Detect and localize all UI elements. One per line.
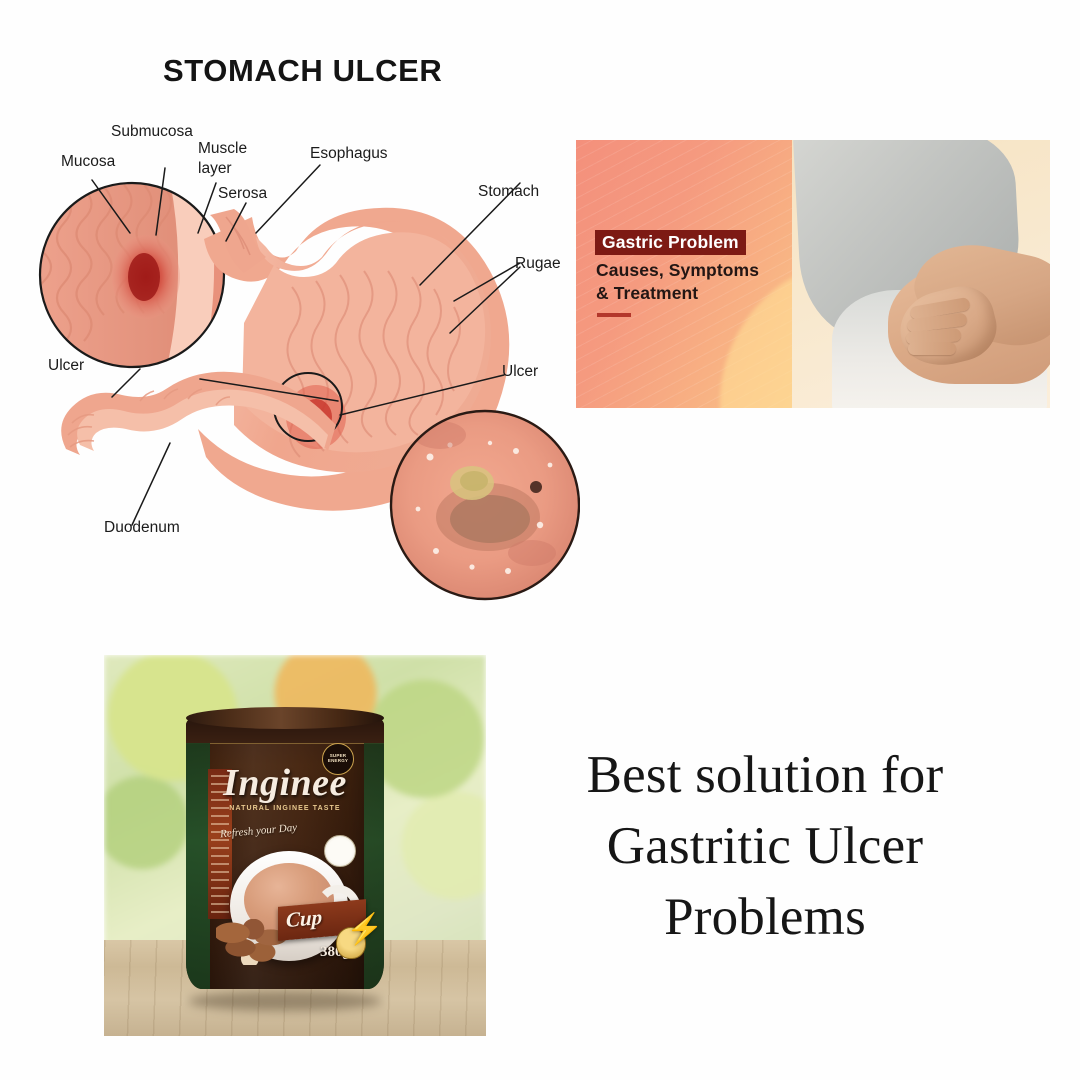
headline-line-2: Gastritic Ulcer — [505, 811, 1025, 882]
can-lid — [186, 707, 384, 729]
label-rugae: Rugae — [515, 255, 561, 272]
lightning-bolt-icon: ⚡ — [346, 915, 383, 945]
label-ulcer-stomach: Ulcer — [502, 363, 538, 380]
can-body: Inginee NATURAL INGINEE TASTE Refresh yo… — [186, 717, 384, 989]
banner-subtitle-line1: Causes, Symptoms — [596, 259, 845, 281]
banner-subtitle-line2: & Treatment — [596, 282, 845, 304]
quality-seal-badge — [324, 835, 356, 867]
banner-chip-title: Gastric Problem — [595, 230, 746, 255]
label-mucosa: Mucosa — [61, 153, 115, 170]
banner-accent-bar — [597, 313, 631, 317]
product-headline: Best solution for Gastritic Ulcer Proble… — [505, 740, 1025, 953]
gastric-problem-banner[interactable]: Gastric Problem Causes, Symptoms & Treat… — [576, 140, 1050, 408]
label-muscle-layer-line1: Muscle — [198, 141, 247, 158]
banner-text-block: Gastric Problem Causes, Symptoms & Treat… — [595, 230, 845, 317]
product-can: Inginee NATURAL INGINEE TASTE Refresh yo… — [186, 707, 384, 1003]
page-title: STOMACH ULCER — [163, 53, 442, 89]
brand-name: Inginee — [186, 761, 384, 805]
can-shadow — [188, 991, 382, 1011]
super-energy-badge: SUPER ENERGY — [322, 743, 354, 775]
label-duodenum: Duodenum — [104, 519, 180, 536]
headline-line-3: Problems — [505, 882, 1025, 953]
label-muscle-layer-line2: layer — [198, 161, 232, 178]
label-stomach: Stomach — [478, 183, 539, 200]
label-esophagus: Esophagus — [310, 145, 388, 162]
brand-subtitle: NATURAL INGINEE TASTE — [186, 805, 384, 812]
headline-line-1: Best solution for — [505, 740, 1025, 811]
ribbon-label: Cup — [286, 905, 322, 933]
poster-canvas: STOMACH ULCER — [0, 0, 1080, 1080]
label-submucosa: Submucosa — [111, 123, 193, 140]
label-serosa: Serosa — [218, 185, 267, 202]
stomach-ulcer-diagram: Mucosa Submucosa Muscle layer Serosa Eso… — [20, 105, 580, 610]
product-photo[interactable]: Inginee NATURAL INGINEE TASTE Refresh yo… — [104, 655, 486, 1036]
label-ulcer-inset: Ulcer — [48, 357, 84, 374]
